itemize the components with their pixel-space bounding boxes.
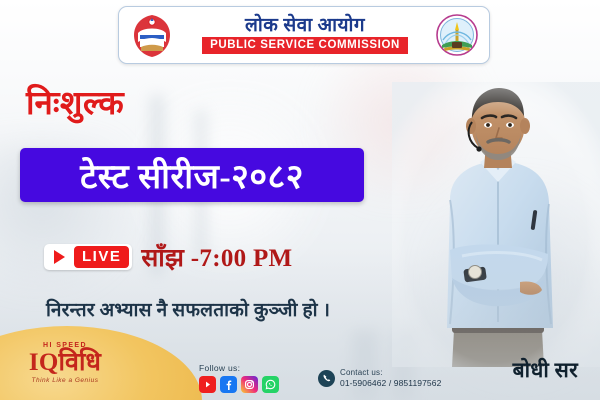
psc-header-text: लोक सेवा आयोग PUBLIC SERVICE COMMISSION (175, 16, 435, 55)
contact-text: Contact us: 01-5906462 / 9851197562 (340, 368, 441, 388)
contact-label: Contact us: (340, 368, 441, 378)
whatsapp-icon[interactable] (262, 376, 279, 393)
logo-wordmark: IQविधि (6, 350, 124, 375)
brand-logo: HI SPEED IQविधि Think Like a Genius (6, 342, 124, 384)
nepal-national-emblem-icon (129, 11, 175, 59)
facebook-icon[interactable] (220, 376, 237, 393)
phone-icon (318, 370, 335, 387)
public-service-commission-emblem-icon (435, 12, 479, 58)
play-icon (47, 247, 71, 267)
test-series-title: टेस्ट सीरीज-२०८२ (80, 152, 304, 198)
contact-numbers: 01-5906462 / 9851197562 (340, 378, 441, 388)
youtube-icon[interactable] (199, 376, 216, 393)
live-time: साँझ -7:00 PM (141, 240, 292, 274)
motivational-tagline: निरन्तर अभ्यास नै सफलताको कुञ्जी हो । (46, 296, 330, 322)
social-icon-row (199, 376, 279, 393)
org-name-nepali: लोक सेवा आयोग (179, 16, 431, 36)
live-label: LIVE (74, 246, 129, 268)
follow-us-label: Follow us: (199, 363, 279, 373)
live-schedule-row: LIVE साँझ -7:00 PM (44, 240, 292, 274)
promotional-banner: लोक सेवा आयोग PUBLIC SERVICE COMMISSION … (0, 0, 600, 400)
contact-section: Contact us: 01-5906462 / 9851197562 (318, 368, 441, 388)
instagram-icon[interactable] (241, 376, 258, 393)
logo-speed-label: HI SPEED (6, 342, 124, 349)
live-badge: LIVE (44, 244, 132, 270)
logo-tagline: Think Like a Genius (6, 377, 124, 384)
org-name-english: PUBLIC SERVICE COMMISSION (202, 37, 408, 54)
free-label: निःशुल्क (26, 79, 124, 124)
psc-header-strip: लोक सेवा आयोग PUBLIC SERVICE COMMISSION (118, 6, 490, 64)
test-series-title-band: टेस्ट सीरीज-२०८२ (20, 148, 364, 202)
follow-us-section: Follow us: (199, 363, 279, 393)
instructor-name: बोधी सर (513, 356, 578, 384)
